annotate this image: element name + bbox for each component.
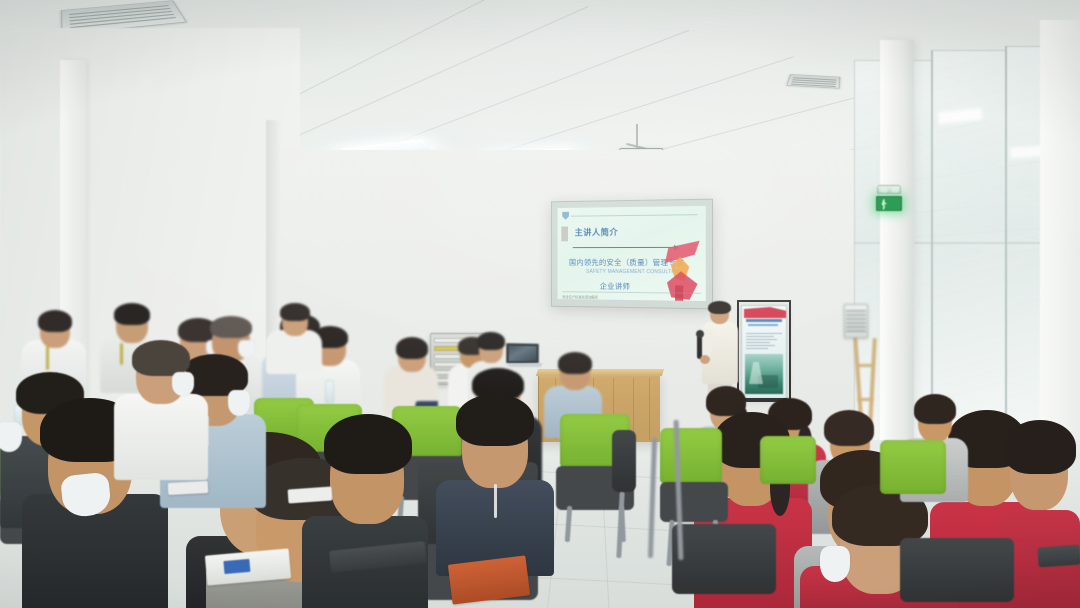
slide-logo-icon (562, 212, 569, 220)
projection-screen: 主讲人简介 国内领先的安全（质量）管理专家 SAFETY MANAGEMENT … (551, 199, 713, 310)
running-man-glyph (880, 199, 888, 210)
water-bottle (325, 380, 334, 404)
exit-sign-icon (876, 196, 902, 211)
attendee-shirt (114, 394, 208, 480)
slide-line-3: 企业讲师 (600, 281, 631, 292)
attendee-shirt (266, 330, 322, 374)
banner-stand-top-bar (737, 300, 791, 302)
slide-figure-graphic (655, 241, 702, 300)
emergency-light-icon (877, 185, 901, 194)
banner-stand-post-right (789, 300, 791, 402)
training-chair[interactable] (672, 524, 782, 608)
training-chair[interactable] (612, 430, 638, 560)
chair-support-frame (646, 438, 660, 558)
attendee (302, 424, 430, 608)
attendee (436, 400, 556, 572)
attendee (266, 306, 324, 366)
training-chair[interactable] (900, 538, 1020, 608)
notebook (168, 481, 209, 495)
face-mask (820, 546, 850, 582)
face-mask (238, 340, 255, 358)
presentation-slide: 主讲人简介 国内领先的安全（质量）管理专家 SAFETY MANAGEMENT … (558, 206, 706, 301)
training-chair[interactable] (880, 440, 952, 520)
slide-footer: 安全生产标准化咨询服务 (562, 294, 598, 299)
slide-accent-tab (561, 227, 568, 242)
attendee (384, 340, 440, 412)
glass-mullion-1 (931, 50, 933, 450)
rollup-banner (741, 305, 787, 399)
banner-headline (746, 319, 782, 322)
banner-subhead (748, 324, 778, 326)
banner-red-graphic (744, 307, 786, 318)
meeting-room-photo: 主讲人简介 国内领先的安全（质量）管理专家 SAFETY MANAGEMENT … (0, 0, 1080, 608)
chair-support-frame (672, 420, 686, 560)
face-mask (228, 390, 250, 416)
banner-landscape-image (745, 354, 783, 394)
wall-ac-unit (844, 304, 868, 338)
slide-top-rule (571, 214, 698, 216)
slide-title: 主讲人简介 (575, 226, 619, 238)
glass-mullion-2 (1005, 46, 1007, 450)
presenter (700, 303, 742, 399)
chair-writing-tablet (1037, 545, 1080, 568)
attendee (114, 346, 212, 474)
training-chair[interactable] (760, 436, 820, 506)
face-mask (172, 372, 194, 396)
